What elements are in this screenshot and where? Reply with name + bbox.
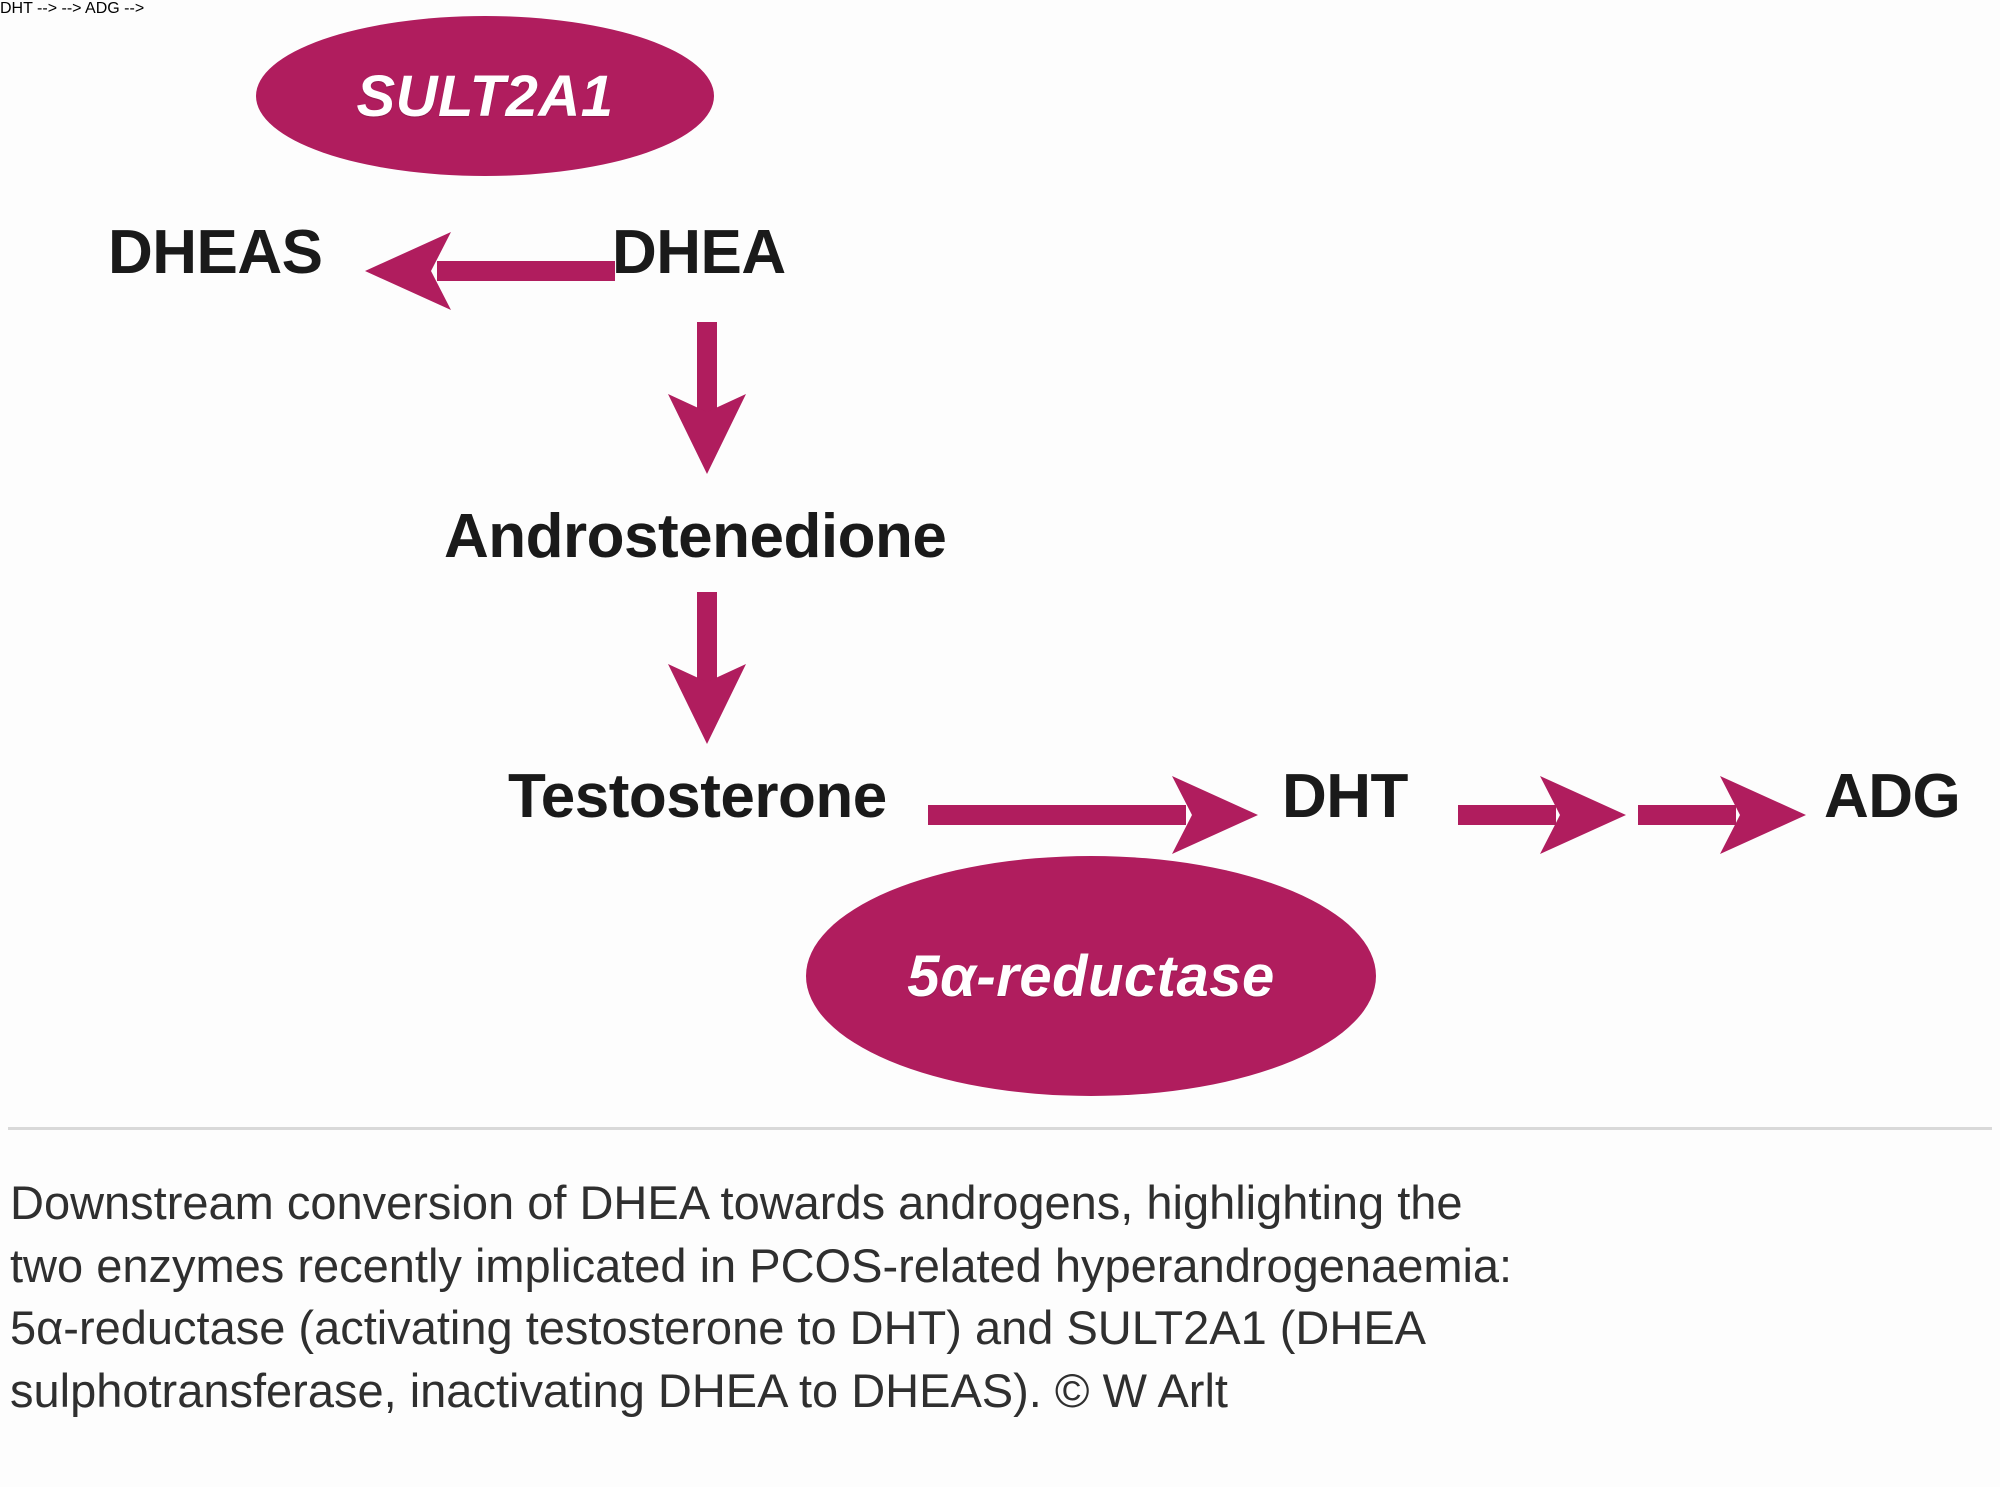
arrow-dhea-to-androstenedione xyxy=(668,322,746,474)
arrow-testosterone-to-dht xyxy=(928,776,1258,854)
node-testosterone: Testosterone xyxy=(508,766,887,828)
enzyme-label-sult2a1: SULT2A1 xyxy=(356,63,613,130)
caption-divider xyxy=(8,1127,1992,1130)
caption-line-4: sulphotransferase, inactivating DHEA to … xyxy=(10,1360,1910,1423)
node-dht: DHT xyxy=(1282,766,1408,828)
enzyme-label-5a-reductase: 5α-reductase xyxy=(907,943,1275,1010)
caption-line-1: Downstream conversion of DHEA towards an… xyxy=(10,1172,1910,1235)
enzyme-ellipse-5a-reductase: 5α-reductase xyxy=(806,856,1376,1096)
caption-line-3: 5α-reductase (activating testosterone to… xyxy=(10,1297,1910,1360)
arrow-intermediate-to-adg xyxy=(1638,776,1806,854)
node-androstenedione: Androstenedione xyxy=(444,506,946,568)
node-dheas: DHEAS xyxy=(108,222,323,284)
figure-caption: Downstream conversion of DHEA towards an… xyxy=(10,1172,1910,1422)
node-adg: ADG xyxy=(1824,766,1960,828)
pathway-diagram: SULT2A1 DHEAS DHEA Androstenedione DHT -… xyxy=(0,0,2000,1127)
arrow-dht-to-intermediate xyxy=(1458,776,1626,854)
arrow-dhea-to-dheas xyxy=(365,232,615,310)
caption-line-2: two enzymes recently implicated in PCOS-… xyxy=(10,1235,1910,1298)
figure-panel: SULT2A1 DHEAS DHEA Androstenedione DHT -… xyxy=(0,0,2000,1487)
node-dhea: DHEA xyxy=(612,222,786,284)
enzyme-ellipse-sult2a1: SULT2A1 xyxy=(256,16,714,176)
arrow-androstenedione-to-testosterone xyxy=(668,592,746,744)
